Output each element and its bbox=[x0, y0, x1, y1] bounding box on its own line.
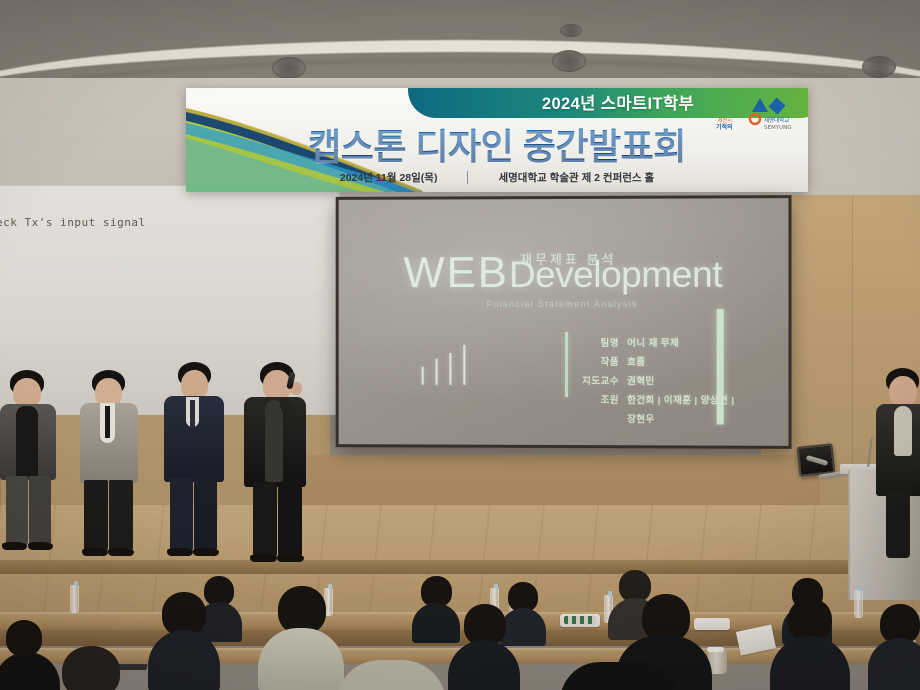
slide-subtitle-en: Financial Statement Analysis bbox=[339, 299, 789, 309]
leg bbox=[253, 482, 277, 558]
event-banner: 2024년 스마트IT학부 캡스톤 디자인 중간발표회 2024년 11월 28… bbox=[186, 88, 808, 192]
banner-ribbon-label: 2024년 스마트IT학부 bbox=[542, 90, 694, 118]
banner-venue: 세명대학교 학술관 제 2 컨퍼런스 홀 bbox=[498, 170, 654, 185]
necktie bbox=[190, 400, 195, 428]
leg bbox=[170, 478, 193, 552]
shoe bbox=[193, 548, 219, 556]
necktie bbox=[105, 406, 110, 438]
svg-text:SEMYUNG: SEMYUNG bbox=[764, 125, 791, 131]
info-row: 조원 한건희 | 이재훈 | 양상연 | bbox=[577, 392, 734, 406]
shoe bbox=[250, 554, 277, 562]
head bbox=[62, 646, 120, 690]
info-row: 지도교수 권혁민 bbox=[577, 373, 734, 387]
leg bbox=[6, 476, 28, 546]
body bbox=[770, 636, 850, 690]
info-key: 조원 bbox=[577, 392, 619, 406]
inner-shirt bbox=[894, 406, 912, 456]
snack-items bbox=[564, 616, 596, 624]
podium-speaker bbox=[876, 368, 920, 568]
presenter-4 bbox=[244, 362, 322, 586]
leg bbox=[194, 478, 217, 552]
side-screen-text: eck Tx's input signal bbox=[0, 216, 156, 229]
head bbox=[278, 586, 326, 634]
audience-member bbox=[770, 598, 850, 690]
inner-shirt bbox=[265, 400, 283, 482]
presenter-1 bbox=[0, 370, 70, 575]
info-key: 팀명 bbox=[577, 335, 619, 349]
audience-member bbox=[0, 620, 60, 690]
ceiling-speaker-icon bbox=[552, 50, 586, 72]
banner-date: 2024년 11월 28일(목) bbox=[340, 170, 438, 185]
body bbox=[148, 630, 220, 690]
shoe bbox=[108, 548, 134, 556]
audience-member-foreground bbox=[560, 662, 680, 690]
info-value: 흐름 bbox=[627, 354, 645, 368]
presenter-2 bbox=[78, 370, 150, 580]
info-value: 어니 재 무제 bbox=[627, 335, 679, 349]
slide-team-info: 팀명 어니 재 무제 작품 흐름 지도교수 권혁민 조원 한건희 | 이재훈 |… bbox=[577, 335, 734, 426]
info-value: 권혁민 bbox=[627, 373, 655, 387]
slide-title-korean: 재무제표 분석 bbox=[520, 249, 616, 268]
ceiling-speaker-icon bbox=[272, 57, 306, 79]
audience-member bbox=[258, 586, 344, 690]
leg bbox=[84, 480, 108, 552]
leg bbox=[886, 492, 910, 558]
inner-shirt bbox=[16, 406, 38, 478]
auditorium-scene: eck Tx's input signal 2024년 스마트IT학부 캡스톤 … bbox=[0, 0, 920, 690]
leg bbox=[29, 476, 51, 546]
shoe bbox=[277, 554, 304, 562]
shoe bbox=[167, 548, 193, 556]
slide-decorative-bars bbox=[422, 345, 466, 385]
svg-text:세명대학교: 세명대학교 bbox=[764, 116, 789, 124]
banner-logos: 제천시 기적의 세명대학교 SEMYUNG bbox=[714, 94, 800, 136]
shoe bbox=[82, 548, 108, 556]
banner-subtitle: 2024년 11월 28일(목) 세명대학교 학술관 제 2 컨퍼런스 홀 bbox=[186, 170, 808, 185]
svg-text:제천시: 제천시 bbox=[718, 117, 732, 124]
body bbox=[560, 662, 680, 690]
slide-title-main: WEB bbox=[403, 248, 508, 297]
body bbox=[448, 640, 520, 690]
banner-divider bbox=[467, 171, 468, 184]
svg-text:기적의: 기적의 bbox=[716, 123, 733, 131]
shoe bbox=[2, 542, 27, 550]
slide-accent-bar-left bbox=[565, 332, 568, 397]
water-bottle bbox=[854, 590, 863, 618]
audience-member bbox=[148, 592, 220, 690]
leg bbox=[109, 480, 133, 552]
head bbox=[889, 376, 917, 407]
ceiling-speaker-icon bbox=[862, 56, 896, 78]
shoe bbox=[28, 542, 53, 550]
info-key: 작품 bbox=[577, 354, 619, 368]
audience-member bbox=[868, 604, 920, 690]
body bbox=[336, 660, 446, 690]
audience-member-foreground bbox=[336, 660, 446, 690]
info-value-continued: 장현우 bbox=[627, 411, 734, 425]
main-projection-screen: WEBDevelopment 재무제표 분석 Financial Stateme… bbox=[336, 195, 792, 449]
leg bbox=[278, 482, 302, 558]
info-row: 팀명 어니 재 무제 bbox=[577, 335, 734, 349]
body bbox=[258, 628, 344, 690]
info-row: 작품 흐름 bbox=[577, 354, 734, 368]
ceiling-speaker-icon bbox=[560, 24, 582, 37]
info-value: 한건희 | 이재훈 | 양상연 | bbox=[627, 392, 734, 406]
audience-member bbox=[448, 604, 520, 690]
body bbox=[868, 638, 920, 690]
info-key: 지도교수 bbox=[577, 373, 619, 387]
head bbox=[642, 594, 690, 642]
presenter-3 bbox=[162, 362, 236, 580]
body bbox=[0, 652, 60, 690]
head bbox=[6, 620, 42, 656]
slide-canvas: WEBDevelopment 재무제표 분석 Financial Stateme… bbox=[339, 198, 789, 446]
audience-member-foreground bbox=[52, 646, 148, 690]
water-bottle bbox=[70, 585, 79, 613]
